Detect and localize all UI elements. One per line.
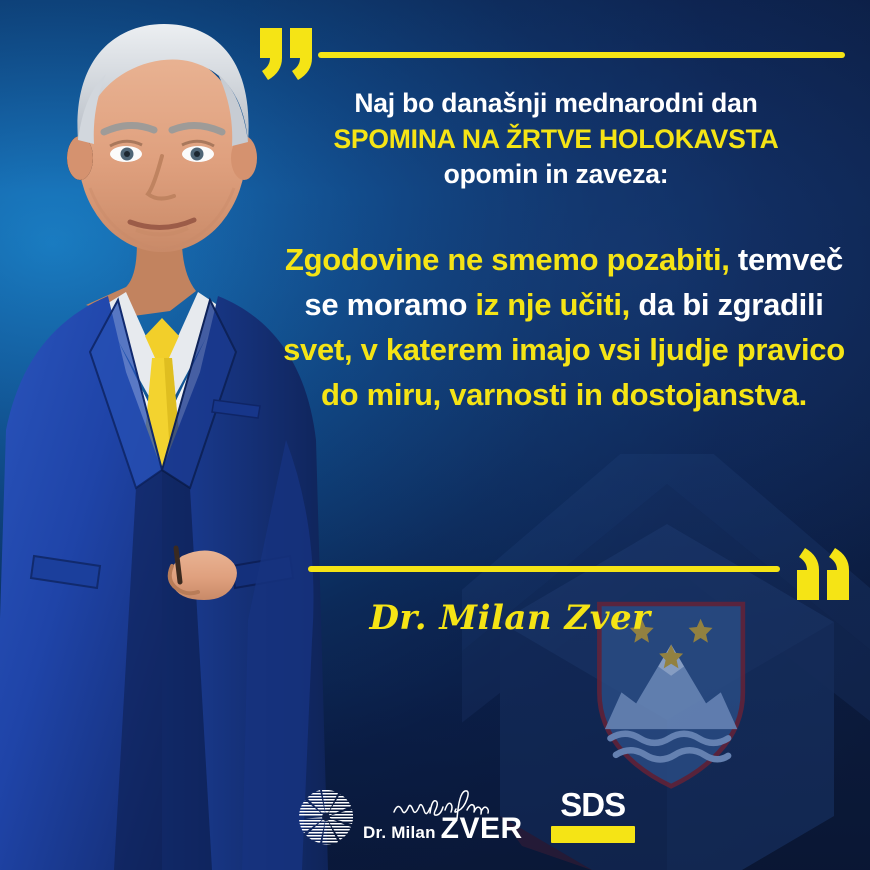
attribution-name: Dr. Milan Zver	[250, 598, 770, 638]
footer-logo-bar: Dr. Milan ZVER SDS	[295, 786, 635, 848]
milan-zver-signature-icon	[391, 788, 501, 822]
quote-segment-5: svet, v katerem imajo vsi ljudje pravico…	[283, 332, 845, 412]
sds-party-logo: SDS	[551, 789, 635, 842]
quote-segment-1: Zgodovine ne smemo pozabiti,	[285, 242, 730, 277]
sds-wordmark: SDS	[551, 789, 635, 820]
quote-card-content: Naj bo današnji mednarodni dan SPOMINA N…	[250, 0, 870, 870]
horizontal-rule-bottom	[308, 566, 780, 572]
headline-line-2-highlight: SPOMINA NA ŽRTVE HOLOKAVSTA	[250, 122, 862, 158]
fan-circle-icon	[295, 786, 357, 848]
zver-logo: Dr. Milan ZVER	[295, 786, 523, 848]
quote-segment-3: iz nje učiti,	[475, 287, 630, 322]
sds-yellow-bar	[551, 826, 635, 843]
page-title: Naj bo današnji mednarodni dan SPOMINA N…	[250, 86, 862, 193]
zver-logo-name-small: Dr. Milan	[363, 823, 436, 843]
social-graphic-canvas: Naj bo današnji mednarodni dan SPOMINA N…	[0, 0, 870, 870]
quote-close-icon	[795, 548, 851, 600]
headline-line-1: Naj bo današnji mednarodni dan	[250, 86, 862, 122]
zver-wordmark: Dr. Milan ZVER	[363, 812, 523, 848]
horizontal-rule-top	[318, 52, 845, 58]
quote-segment-4: da bi zgradili	[630, 287, 824, 322]
quote-open-icon	[258, 28, 314, 80]
quote-text: Zgodovine ne smemo pozabiti, temveč se m…	[268, 238, 860, 418]
headline-line-3: opomin in zaveza:	[250, 157, 862, 193]
